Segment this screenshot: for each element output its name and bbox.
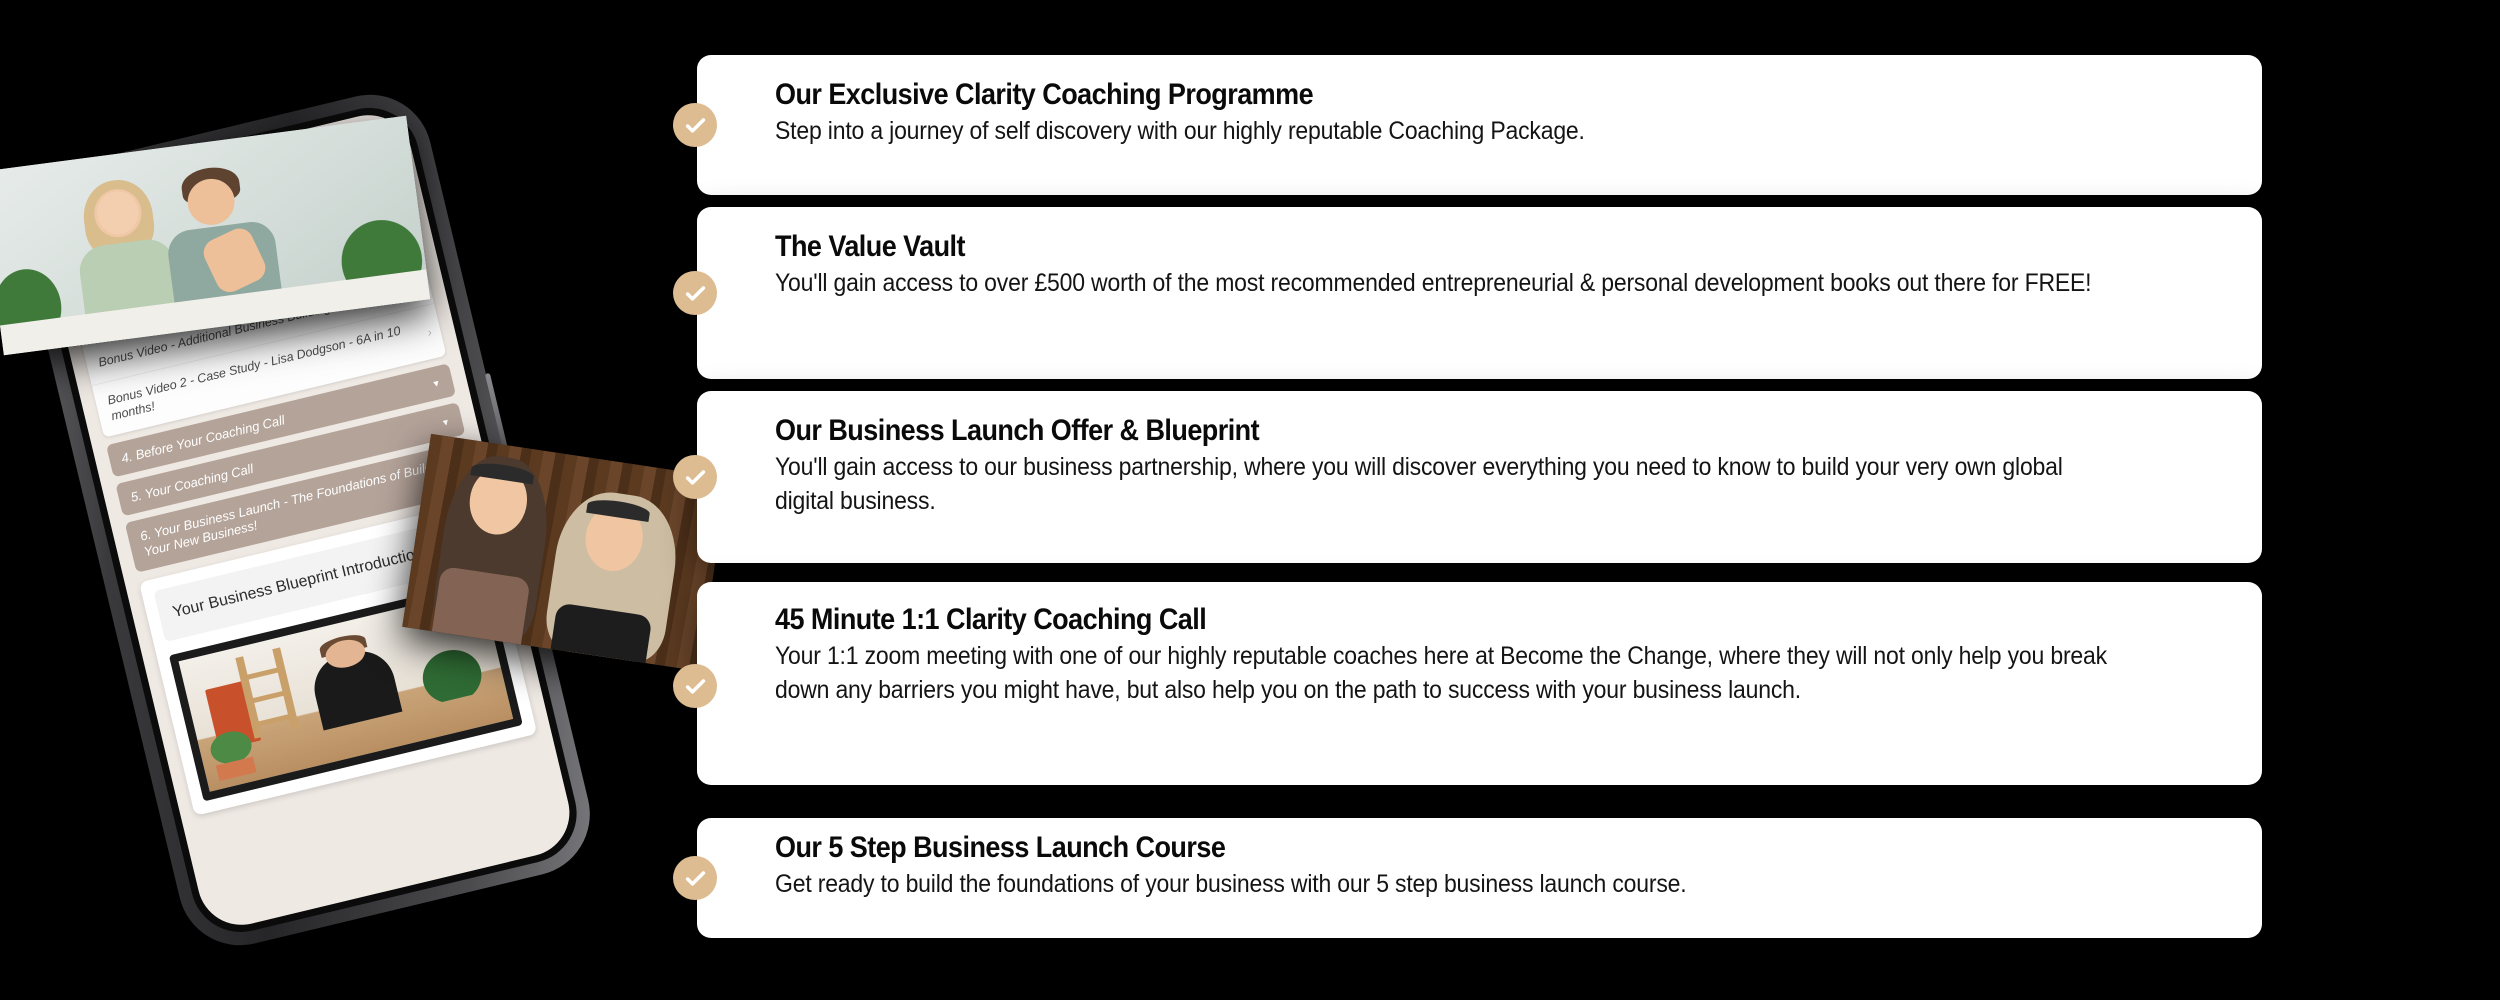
check-circle-icon	[673, 856, 717, 900]
benefit-card[interactable]: Our Business Launch Offer & Blueprint Yo…	[697, 391, 2262, 563]
benefit-description: You'll gain access to over £500 worth of…	[775, 267, 2100, 300]
benefit-card-stack: Our Exclusive Clarity Coaching Programme…	[0, 0, 2500, 1000]
promo-banner: 3. Your Business Blueprint ▲ Introducing…	[0, 0, 2500, 1000]
benefit-card[interactable]: Our Exclusive Clarity Coaching Programme…	[697, 55, 2262, 195]
check-circle-icon	[673, 455, 717, 499]
benefit-description: Your 1:1 zoom meeting with one of our hi…	[775, 640, 2146, 707]
benefit-description: Get ready to build the foundations of yo…	[775, 868, 2118, 901]
benefit-title: Our 5 Step Business Launch Course	[775, 832, 2071, 864]
check-circle-icon	[673, 664, 717, 708]
benefit-title: Our Exclusive Clarity Coaching Programme	[775, 79, 2071, 111]
benefit-card[interactable]: Our 5 Step Business Launch Course Get re…	[697, 818, 2262, 938]
benefit-description: You'll gain access to our business partn…	[775, 451, 2127, 518]
benefit-card[interactable]: The Value Vault You'll gain access to ov…	[697, 207, 2262, 379]
benefit-title: The Value Vault	[775, 231, 2071, 263]
benefit-card[interactable]: 45 Minute 1:1 Clarity Coaching Call Your…	[697, 582, 2262, 785]
benefit-title: Our Business Launch Offer & Blueprint	[775, 415, 2071, 447]
check-circle-icon	[673, 103, 717, 147]
benefit-title: 45 Minute 1:1 Clarity Coaching Call	[775, 604, 2071, 636]
benefit-description: Step into a journey of self discovery wi…	[775, 115, 2210, 148]
check-circle-icon	[673, 271, 717, 315]
